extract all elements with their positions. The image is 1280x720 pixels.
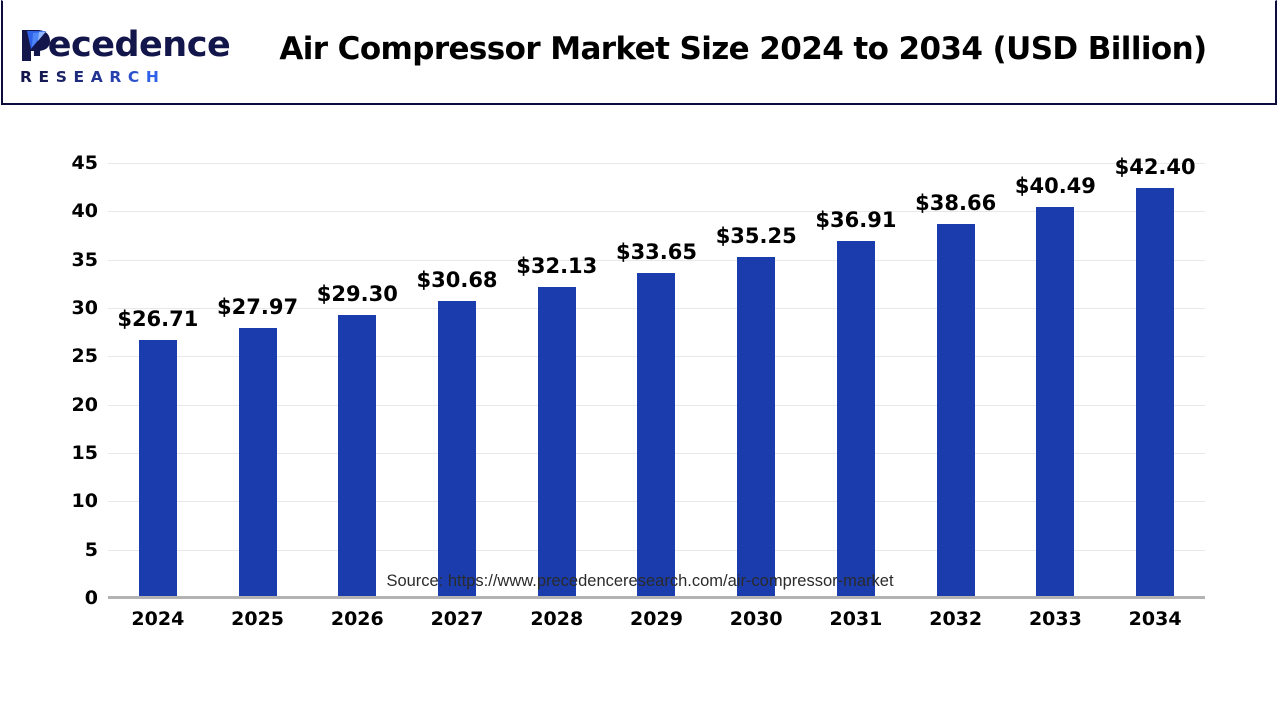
bar-value-label: $32.13 xyxy=(507,256,607,277)
bar-group: $29.30 xyxy=(307,163,407,598)
y-axis-tick-label: 10 xyxy=(46,492,98,511)
bar-value-label: $36.91 xyxy=(806,210,906,231)
logo-subtitle-letter: R xyxy=(20,68,39,86)
bar[interactable] xyxy=(338,315,376,598)
logo-subtitle-letter: E xyxy=(74,68,91,86)
bar-group: $32.13 xyxy=(507,163,607,598)
bar-value-label: $30.68 xyxy=(407,270,507,291)
bar-value-label: $40.49 xyxy=(1006,176,1106,197)
bar[interactable] xyxy=(637,273,675,598)
bar[interactable] xyxy=(1036,207,1074,598)
logo-subtitle-letter: H xyxy=(146,68,166,86)
logo-subtitle-letter: E xyxy=(39,68,56,86)
y-axis-tick-label: 40 xyxy=(46,202,98,221)
x-axis-tick-label: 2034 xyxy=(1105,610,1205,629)
bar[interactable] xyxy=(1136,188,1174,598)
chart-canvas: $26.71$27.97$29.30$30.68$32.13$33.65$35.… xyxy=(0,105,1280,720)
y-axis-tick-label: 20 xyxy=(46,396,98,415)
bar-group: $33.65 xyxy=(607,163,707,598)
bar-value-label: $42.40 xyxy=(1105,157,1205,178)
logo-subtitle-letter: S xyxy=(56,68,74,86)
x-axis-tick-label: 2030 xyxy=(706,610,806,629)
leaf-arrow-icon xyxy=(19,27,53,63)
bar[interactable] xyxy=(139,340,177,598)
y-axis-tick-label: 30 xyxy=(46,299,98,318)
y-axis-tick-label: 15 xyxy=(46,444,98,463)
bar-value-label: $33.65 xyxy=(607,242,707,263)
bar-group: $42.40 xyxy=(1105,163,1205,598)
x-axis-tick-label: 2033 xyxy=(1006,610,1106,629)
bar-group: $36.91 xyxy=(806,163,906,598)
y-axis-tick-label: 35 xyxy=(46,251,98,270)
y-axis-tick-label: 25 xyxy=(46,347,98,366)
x-axis-line xyxy=(108,596,1205,599)
plot-area: $26.71$27.97$29.30$30.68$32.13$33.65$35.… xyxy=(108,163,1205,598)
bar-value-label: $26.71 xyxy=(108,309,208,330)
x-axis-tick-label: 2027 xyxy=(407,610,507,629)
bar-group: $26.71 xyxy=(108,163,208,598)
precedence-research-logo: recedence RESEARCH xyxy=(17,25,227,91)
bar[interactable] xyxy=(239,328,277,598)
bar-value-label: $35.25 xyxy=(706,226,806,247)
x-axis-tick-label: 2026 xyxy=(307,610,407,629)
bar-group: $40.49 xyxy=(1006,163,1106,598)
bar[interactable] xyxy=(837,241,875,598)
bar-group: $30.68 xyxy=(407,163,507,598)
y-axis-tick-label: 5 xyxy=(46,541,98,560)
bar[interactable] xyxy=(937,224,975,598)
bar[interactable] xyxy=(538,287,576,598)
x-axis-tick-label: 2025 xyxy=(208,610,308,629)
y-axis-tick-label: 45 xyxy=(46,154,98,173)
bar[interactable] xyxy=(438,301,476,598)
bar-group: $27.97 xyxy=(208,163,308,598)
bar-value-label: $38.66 xyxy=(906,193,1006,214)
header-bar: recedence RESEARCH Air Compressor Market… xyxy=(1,0,1277,105)
x-axis-tick-label: 2031 xyxy=(806,610,906,629)
bar-value-label: $29.30 xyxy=(307,284,407,305)
bar-group: $38.66 xyxy=(906,163,1006,598)
logo-subtitle-letter: R xyxy=(109,68,128,86)
bar-value-label: $27.97 xyxy=(208,297,308,318)
bar[interactable] xyxy=(737,257,775,598)
y-axis-tick-label: 0 xyxy=(46,589,98,608)
x-axis-tick-label: 2024 xyxy=(108,610,208,629)
logo-subtitle-letter: A xyxy=(91,68,110,86)
logo-subtitle: RESEARCH xyxy=(20,67,165,87)
x-axis-tick-label: 2028 xyxy=(507,610,607,629)
x-axis-tick-label: 2029 xyxy=(607,610,707,629)
x-axis-tick-label: 2032 xyxy=(906,610,1006,629)
source-caption: Source: https://www.precedenceresearch.c… xyxy=(0,572,1280,591)
bar-group: $35.25 xyxy=(706,163,806,598)
page-title: Air Compressor Market Size 2024 to 2034 … xyxy=(243,31,1243,67)
logo-subtitle-letter: C xyxy=(128,68,146,86)
